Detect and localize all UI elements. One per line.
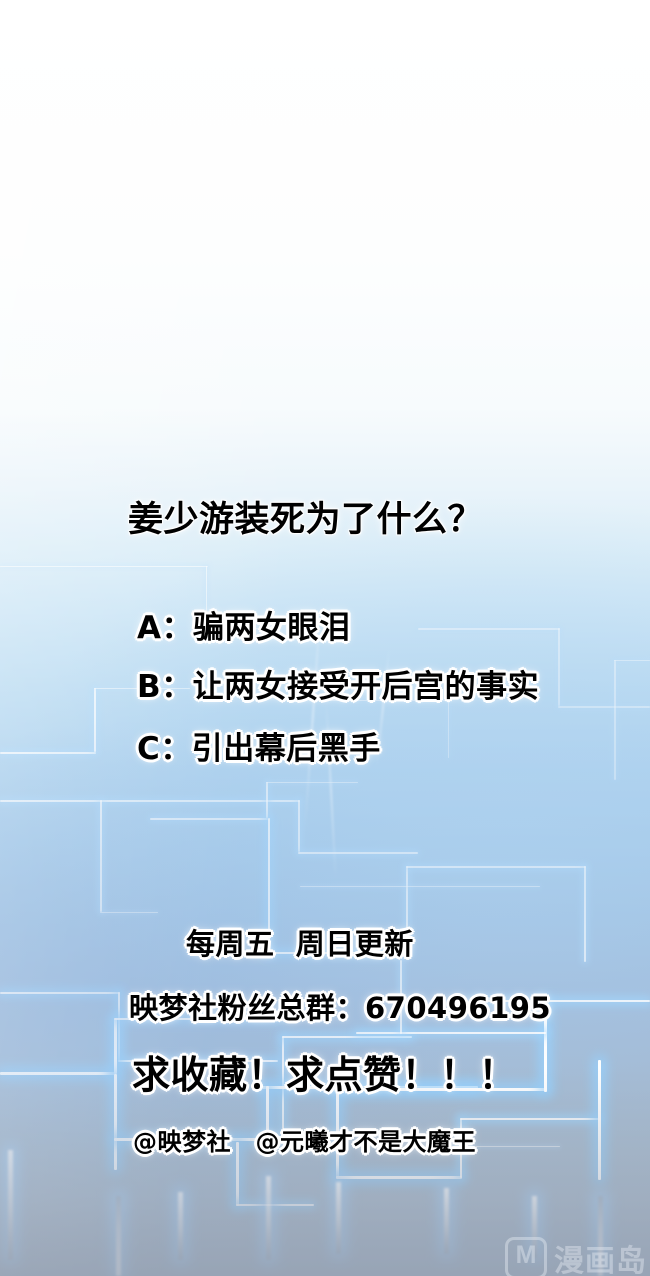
question-title: 姜少游装死为了什么？ <box>128 491 483 542</box>
comic-page: 姜少游装死为了什么？ A：骗两女眼泪 B：让两女接受开后宫的事实 C：引出幕后黑… <box>0 0 650 1276</box>
option-a[interactable]: A：骗两女眼泪 <box>137 602 351 647</box>
watermark-site-name: 漫画岛 <box>554 1236 647 1276</box>
update-schedule: 每周五 周日更新 <box>186 921 414 963</box>
site-watermark: M 漫画岛 <box>505 1236 647 1276</box>
manhuadao-logo-icon: M <box>505 1237 547 1276</box>
option-c[interactable]: C：引出幕后黑手 <box>137 723 381 768</box>
fan-group-number: 映梦社粉丝总群：670496195 <box>129 985 551 1027</box>
option-b[interactable]: B：让两女接受开后宫的事实 <box>137 661 539 706</box>
promo-call-to-action: 求收藏！求点赞！！！ <box>132 1044 517 1099</box>
author-credits: @映梦社 @元曦才不是大魔王 <box>133 1122 476 1157</box>
